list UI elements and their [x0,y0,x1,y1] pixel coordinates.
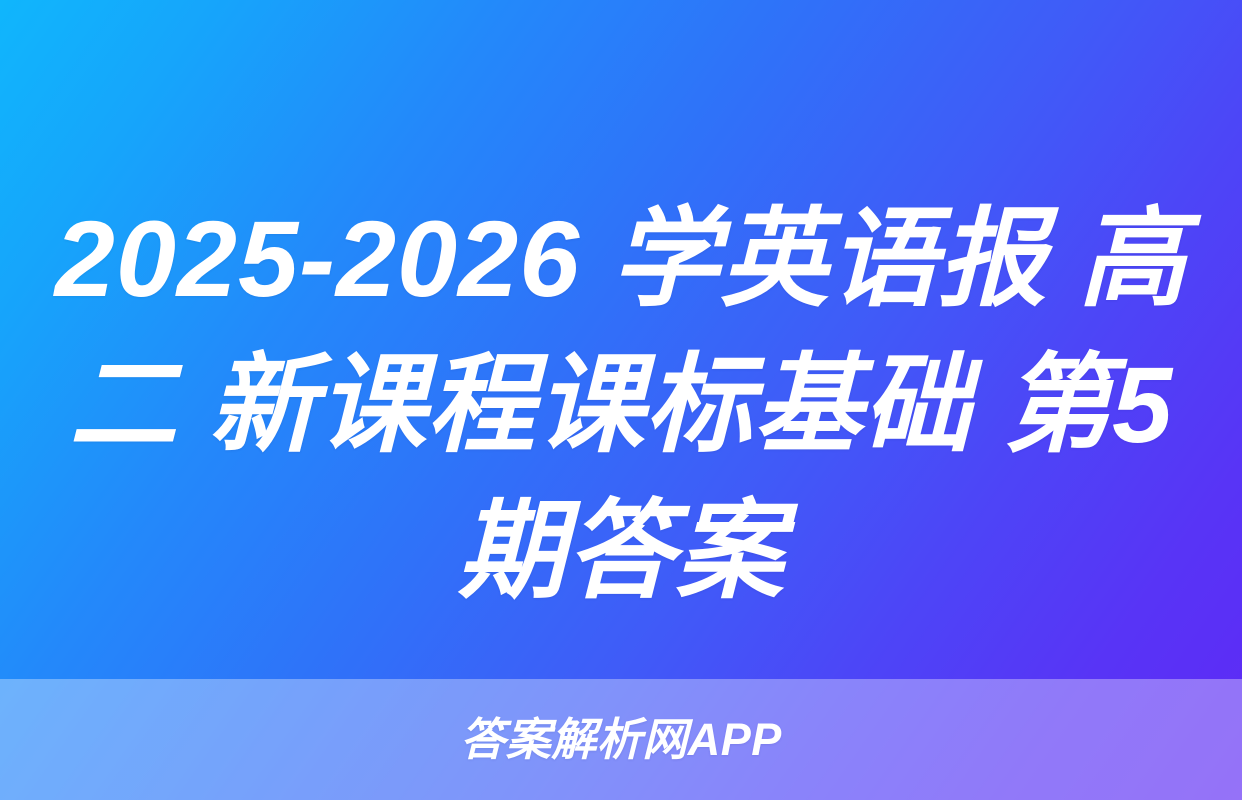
poster-canvas: 2025-2026 学英语报 高 二 新课程课标基础 第5 期答案 答案解析网A… [0,0,1242,800]
page-title-line-2: 二 新课程课标基础 第5 [46,332,1196,478]
page-title-line-1: 2025-2026 学英语报 高 [46,186,1196,332]
page-title-line-3: 期答案 [46,478,1196,624]
page-title: 2025-2026 学英语报 高 二 新课程课标基础 第5 期答案 [0,186,1242,624]
footer-brand-label: 答案解析网APP [460,717,782,762]
footer-brand-band: 答案解析网APP [0,679,1242,800]
